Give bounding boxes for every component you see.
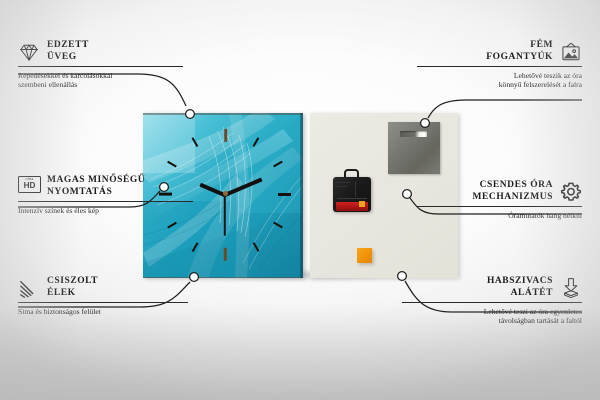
polished-edges-icon <box>18 277 40 299</box>
ultra-hd-big-label: HD <box>24 182 36 190</box>
feature-title: CSENDES ÓRA MECHANIZMUS <box>473 180 553 203</box>
feature-description: Óramutatók hang nélkül <box>417 207 582 220</box>
feature-title: CSISZOLT ÉLEK <box>47 276 98 299</box>
feature-foam-pad: HABSZIVACS ALÁTÉT Lehetővé teszi az óra … <box>402 276 582 326</box>
feature-description: Lehetővé teszik az óra könnyű felszerelé… <box>417 67 582 90</box>
feature-polished-edges: CSISZOLT ÉLEK Sima és biztonságos felüle… <box>18 276 188 316</box>
feature-description: Intenzív színek és éles kép <box>18 202 193 215</box>
feature-header: EDZETT ÜVEG <box>18 40 183 63</box>
wall-hanging-icon <box>560 41 582 63</box>
feature-hd-print: ultra HD MAGAS MINŐSÉGŰ NYOMTATÁS Intenz… <box>18 175 193 215</box>
feature-header: CSISZOLT ÉLEK <box>18 276 188 299</box>
diamond-icon <box>18 41 40 63</box>
feature-description: Sima és biztonságos felület <box>18 303 188 316</box>
gear-icon <box>560 181 582 203</box>
feature-description: Lehetővé teszi az óra egyenletes távolsá… <box>402 303 582 326</box>
feature-header: CSENDES ÓRA MECHANIZMUS <box>417 180 582 203</box>
feature-header: ultra HD MAGAS MINŐSÉGŰ NYOMTATÁS <box>18 175 193 198</box>
ultra-hd-icon: ultra HD <box>18 176 40 198</box>
infographic-stage: EDZETT ÜVEG Repedésekkel és karcolásokka… <box>0 0 600 400</box>
feature-tempered-glass: EDZETT ÜVEG Repedésekkel és karcolásokka… <box>18 40 183 90</box>
feature-silent-mechanism: CSENDES ÓRA MECHANIZMUS Óramutatók hang … <box>417 180 582 220</box>
feature-title: FÉM FOGANTYÚK <box>486 40 553 63</box>
feature-title: MAGAS MINŐSÉGŰ NYOMTATÁS <box>47 175 145 198</box>
feature-header: HABSZIVACS ALÁTÉT <box>402 276 582 299</box>
feature-title: HABSZIVACS ALÁTÉT <box>487 276 553 299</box>
feature-title: EDZETT ÜVEG <box>47 40 89 63</box>
feature-description: Repedésekkel és karcolásokkal szembeni e… <box>18 67 183 90</box>
down-arrow-pad-icon <box>560 277 582 299</box>
feature-header: FÉM FOGANTYÚK <box>417 40 582 63</box>
feature-metal-handles: FÉM FOGANTYÚK Lehetővé teszik az óra kön… <box>417 40 582 90</box>
connector-metal-handles <box>428 100 582 118</box>
